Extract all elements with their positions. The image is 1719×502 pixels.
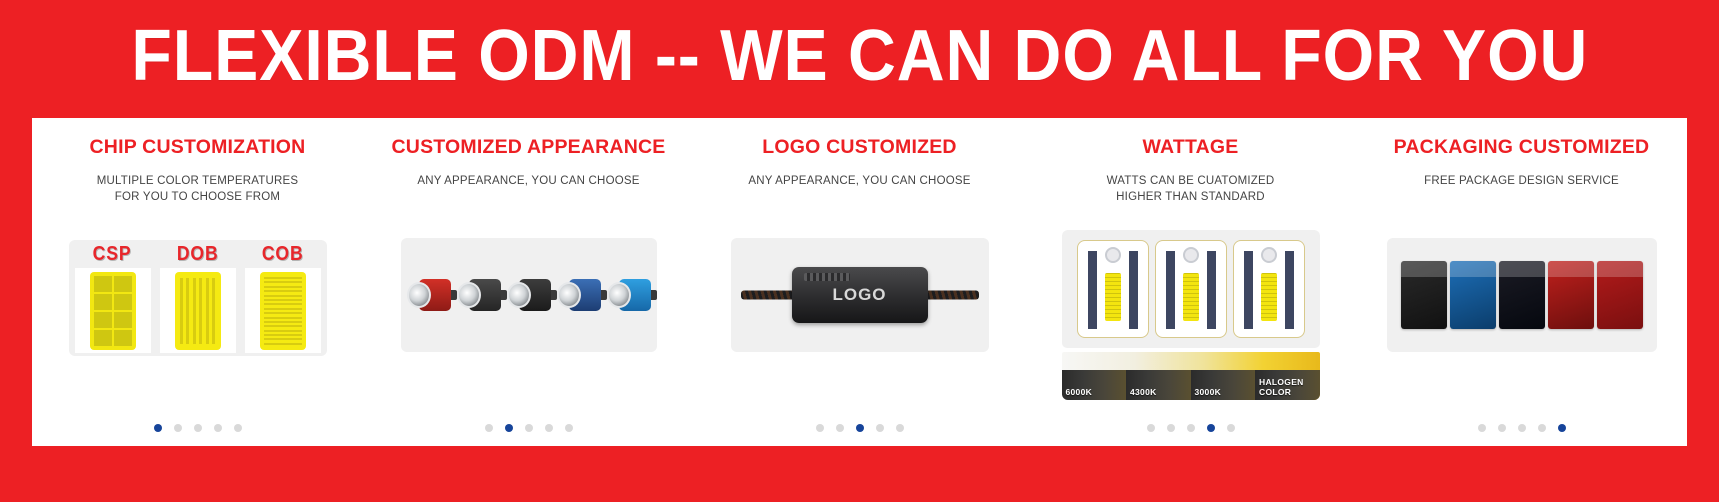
- logo-placeholder-text: LOGO: [832, 285, 886, 305]
- package-box: [1548, 261, 1594, 329]
- color-temperature-strip: 6000K 4300K 3000K HALOGEN COLOR: [1062, 352, 1320, 400]
- panel-chip-customization: CHIP CUSTOMIZATION MULTIPLE COLOR TEMPER…: [32, 118, 363, 446]
- panel-title: CHIP CUSTOMIZATION: [90, 136, 306, 159]
- panel-wattage: WATTAGE WATTS CAN BE CUATOMIZED HIGHER T…: [1025, 118, 1356, 446]
- cob-chip-icon: [260, 272, 306, 350]
- carousel-dot[interactable]: [1478, 424, 1486, 432]
- carousel-dot[interactable]: [1538, 424, 1546, 432]
- panel-packaging-customized: PACKAGING CUSTOMIZED FREE PACKAGE DESIGN…: [1356, 118, 1687, 446]
- carousel-dot[interactable]: [1227, 424, 1235, 432]
- carousel-dot[interactable]: [545, 424, 553, 432]
- panel-subtitle: ANY APPEARANCE, YOU CAN CHOOSE: [748, 173, 970, 189]
- carousel-dot[interactable]: [214, 424, 222, 432]
- carousel-dot[interactable]: [1518, 424, 1526, 432]
- wattage-image: 6000K 4300K 3000K HALOGEN COLOR: [1062, 230, 1320, 400]
- bulb-navy-blue: [555, 272, 603, 318]
- chip-label: DOB: [177, 244, 219, 265]
- panel-subtitle: FREE PACKAGE DESIGN SERVICE: [1424, 173, 1619, 189]
- carousel-dot[interactable]: [1147, 424, 1155, 432]
- carousel-dot[interactable]: [174, 424, 182, 432]
- ballast-body: LOGO: [792, 267, 928, 323]
- bulb-black: [505, 272, 553, 318]
- page-title: FLEXIBLE ODM -- WE CAN DO ALL FOR YOU: [131, 20, 1588, 92]
- heatsink-fins-icon: [804, 273, 850, 281]
- carousel-dot[interactable]: [1498, 424, 1506, 432]
- carousel-dots[interactable]: [1478, 424, 1566, 432]
- carousel-dots[interactable]: [154, 424, 242, 432]
- carousel-dot[interactable]: [836, 424, 844, 432]
- carousel-dot[interactable]: [816, 424, 824, 432]
- color-temp-segment: 6000K: [1062, 352, 1127, 400]
- carousel-dots[interactable]: [816, 424, 904, 432]
- bulb-module-row: [1062, 230, 1320, 348]
- chip-sample-dob: DOB: [160, 244, 236, 353]
- carousel-dot[interactable]: [876, 424, 884, 432]
- color-temp-label: 6000K: [1066, 387, 1093, 397]
- carousel-dot[interactable]: [154, 424, 162, 432]
- carousel-dot[interactable]: [234, 424, 242, 432]
- carousel-dot[interactable]: [1167, 424, 1175, 432]
- chip-swatch: [75, 268, 151, 353]
- chip-label: CSP: [93, 244, 132, 265]
- panel-title: WATTAGE: [1143, 136, 1239, 159]
- carousel-dot[interactable]: [1187, 424, 1195, 432]
- chip-swatch: [160, 268, 236, 353]
- color-temp-label: HALOGEN COLOR: [1259, 377, 1320, 397]
- bulb-sky-blue: [605, 272, 653, 318]
- bulb-module: [1077, 240, 1149, 338]
- chip-label: COB: [262, 244, 304, 265]
- color-temp-segment: HALOGEN COLOR: [1255, 352, 1320, 400]
- logo-ballast-image: LOGO: [731, 238, 989, 352]
- panel-logo-customized: LOGO CUSTOMIZED ANY APPEARANCE, YOU CAN …: [694, 118, 1025, 446]
- package-box: [1450, 261, 1496, 329]
- dob-chip-icon: [175, 272, 221, 350]
- color-temp-segment: 3000K: [1191, 352, 1256, 400]
- bulb-colors-image: [401, 238, 657, 352]
- panel-customized-appearance: CUSTOMIZED APPEARANCE ANY APPEARANCE, YO…: [363, 118, 694, 446]
- banner-header: FLEXIBLE ODM -- WE CAN DO ALL FOR YOU: [0, 0, 1719, 112]
- package-box: [1401, 261, 1447, 329]
- panel-subtitle: MULTIPLE COLOR TEMPERATURES FOR YOU TO C…: [97, 173, 299, 206]
- panel-subtitle: WATTS CAN BE CUATOMIZED HIGHER THAN STAN…: [1107, 173, 1275, 206]
- bulb-dark-gray: [455, 272, 503, 318]
- carousel-dot[interactable]: [856, 424, 864, 432]
- carousel-dot[interactable]: [896, 424, 904, 432]
- carousel-dot[interactable]: [194, 424, 202, 432]
- chip-swatch: [245, 268, 321, 353]
- chip-samples-image: CSP DOB: [69, 240, 327, 356]
- carousel-dot[interactable]: [525, 424, 533, 432]
- color-temp-segment: 4300K: [1126, 352, 1191, 400]
- panel-title: LOGO CUSTOMIZED: [762, 136, 956, 159]
- odm-banner-root: FLEXIBLE ODM -- WE CAN DO ALL FOR YOU CH…: [0, 0, 1719, 502]
- bulb-module: [1155, 240, 1227, 338]
- package-box: [1499, 261, 1545, 329]
- package-boxes-image: [1387, 238, 1657, 352]
- package-box: [1597, 261, 1643, 329]
- csp-chip-icon: [90, 272, 136, 350]
- bulb-red: [405, 272, 453, 318]
- color-temp-label: 4300K: [1130, 387, 1157, 397]
- panel-title: PACKAGING CUSTOMIZED: [1394, 136, 1650, 159]
- carousel-dot[interactable]: [1207, 424, 1215, 432]
- chip-sample-csp: CSP: [75, 244, 151, 353]
- panel-subtitle: ANY APPEARANCE, YOU CAN CHOOSE: [417, 173, 639, 189]
- carousel-dots[interactable]: [1147, 424, 1235, 432]
- carousel-dot[interactable]: [565, 424, 573, 432]
- carousel-dot[interactable]: [1558, 424, 1566, 432]
- chip-sample-cob: COB: [245, 244, 321, 353]
- panels-card: CHIP CUSTOMIZATION MULTIPLE COLOR TEMPER…: [32, 118, 1687, 446]
- color-temp-label: 3000K: [1195, 387, 1222, 397]
- carousel-dot[interactable]: [485, 424, 493, 432]
- carousel-dots[interactable]: [485, 424, 573, 432]
- panel-title: CUSTOMIZED APPEARANCE: [392, 136, 666, 159]
- bulb-module: [1233, 240, 1305, 338]
- carousel-dot[interactable]: [505, 424, 513, 432]
